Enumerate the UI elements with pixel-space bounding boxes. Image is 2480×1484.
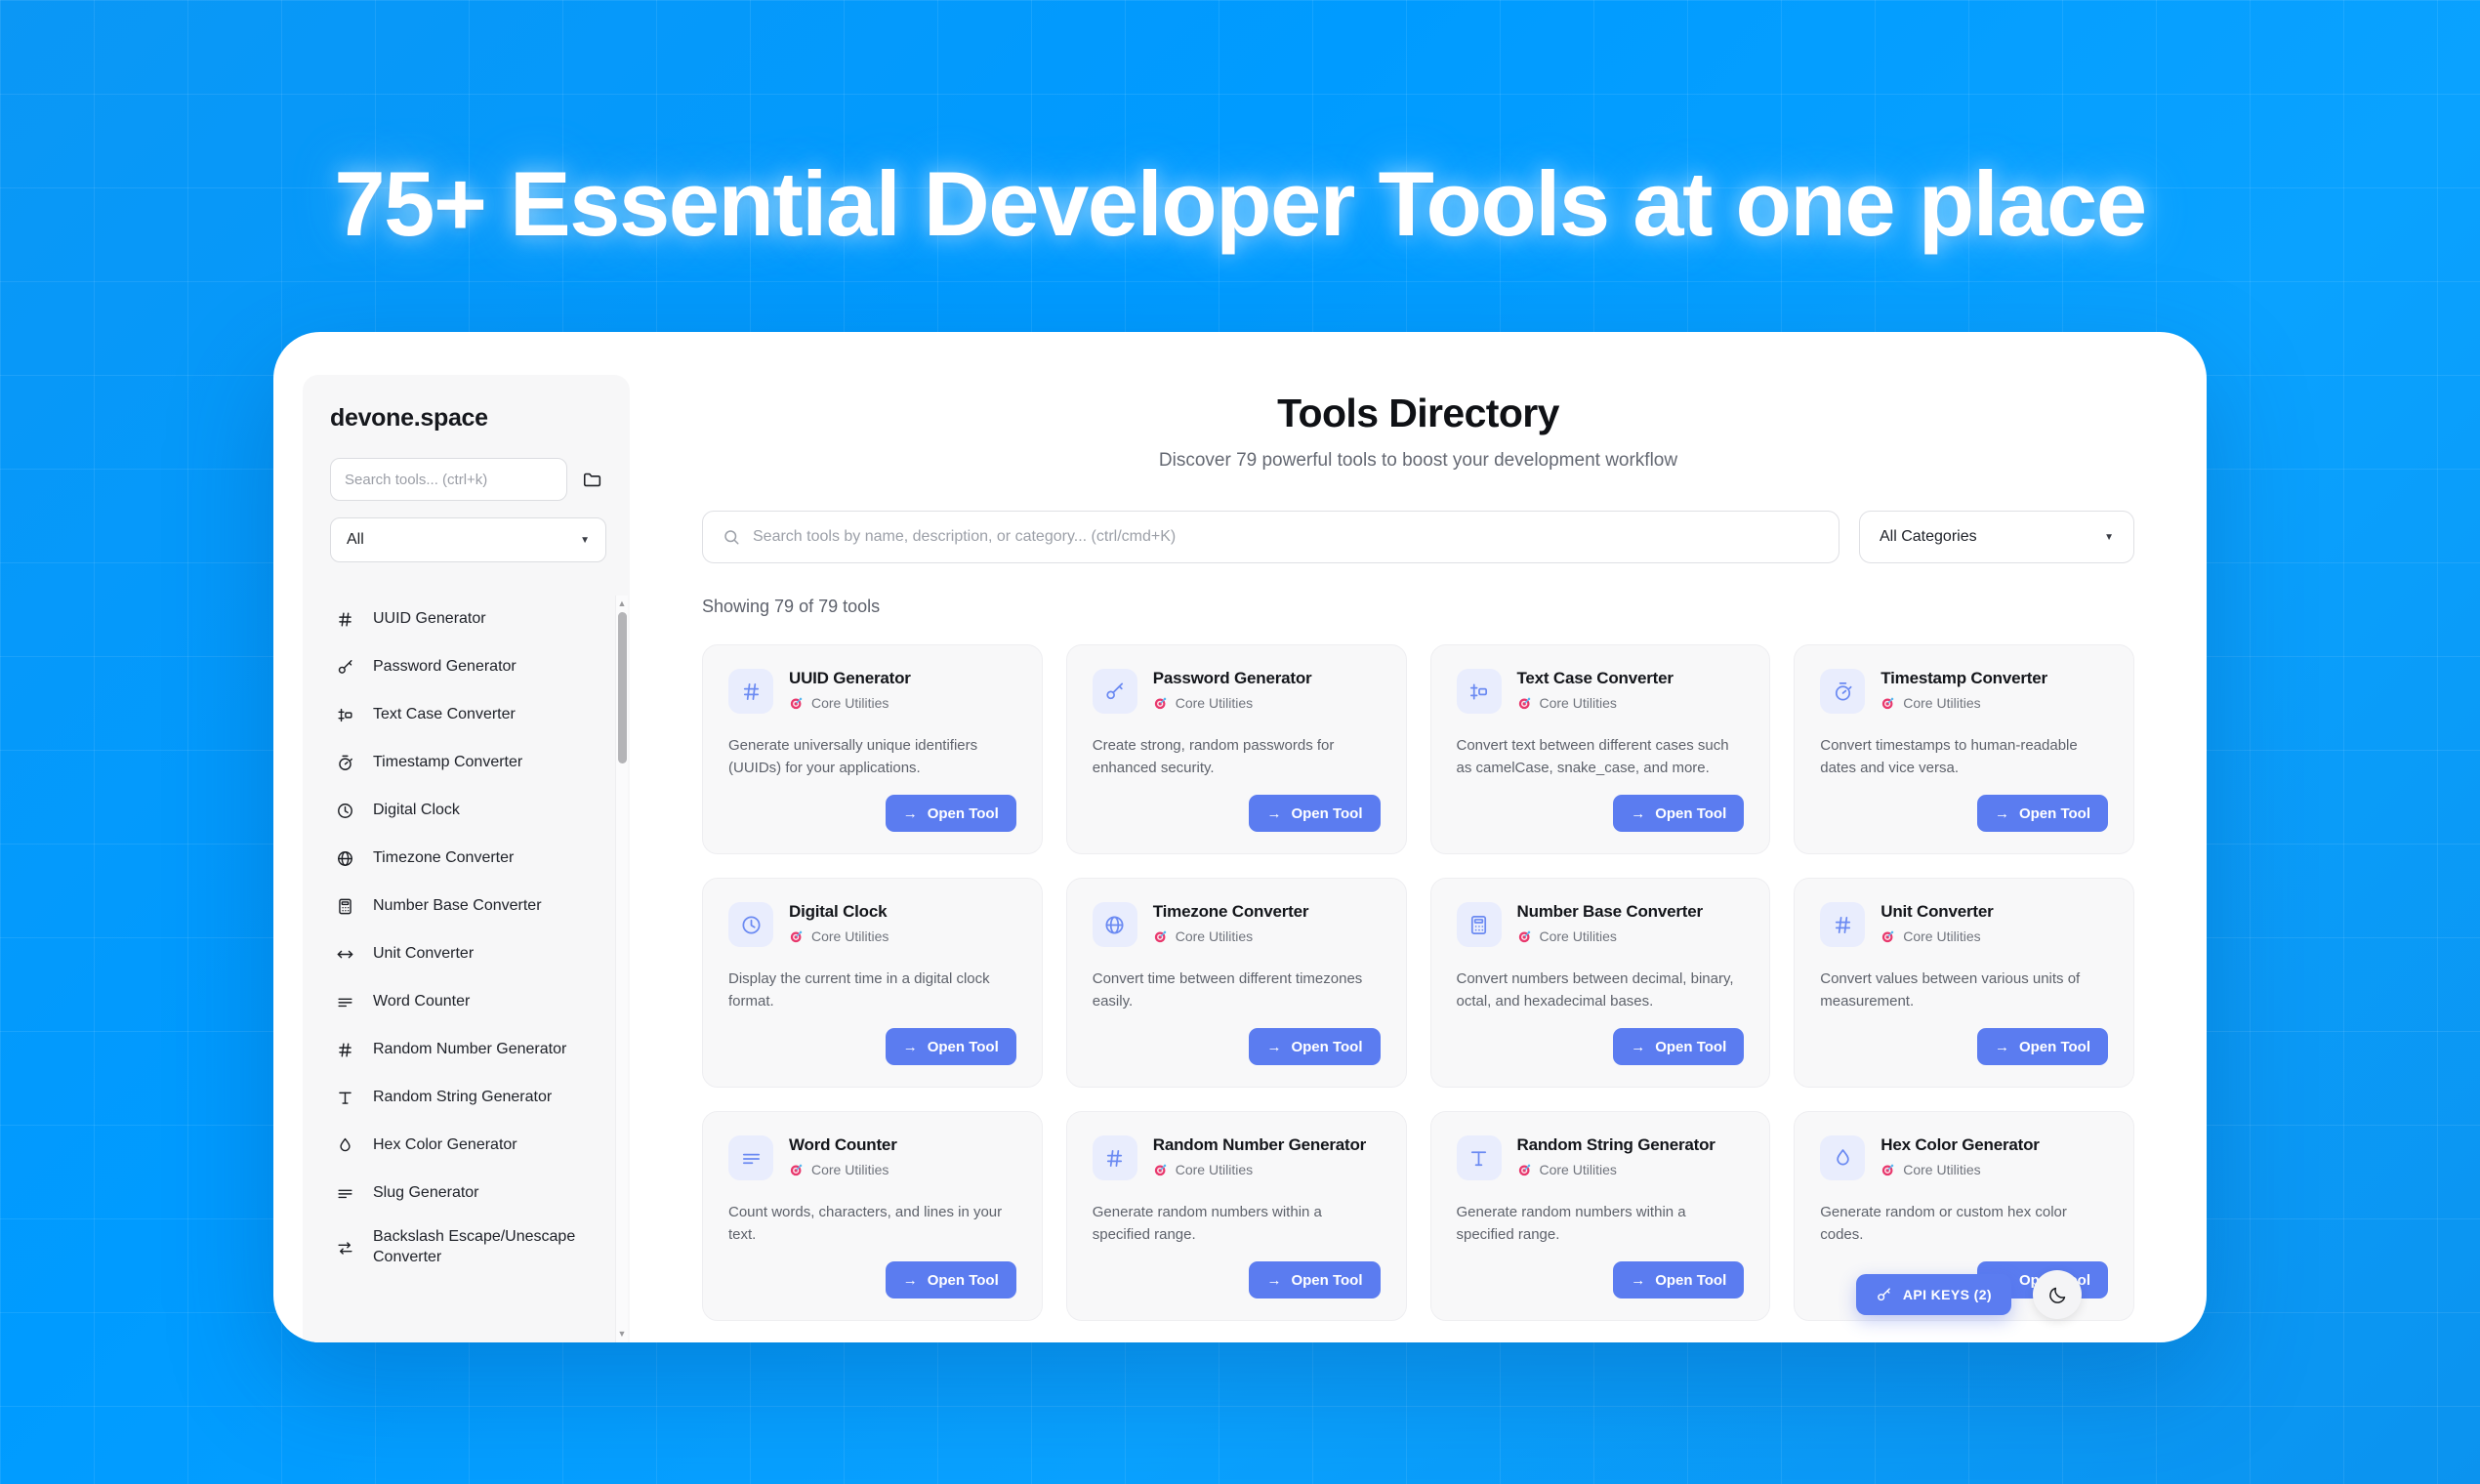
- api-keys-label: API KEYS (2): [1903, 1287, 1992, 1302]
- card-footer: → Open Tool: [1457, 779, 1745, 832]
- category-value: All Categories: [1880, 528, 1977, 546]
- timer-icon: [1820, 669, 1865, 714]
- card-description: Generate random numbers within a specifi…: [1457, 1202, 1745, 1246]
- lines-icon: [728, 1135, 773, 1180]
- chevron-down-icon: ▼: [2104, 532, 2114, 543]
- search-input[interactable]: Search tools by name, description, or ca…: [702, 511, 1839, 563]
- hash-icon: [1820, 902, 1865, 947]
- card-category-label: Core Utilities: [811, 1162, 889, 1177]
- sidebar-tool-list: UUID GeneratorPassword GeneratorText Cas…: [303, 596, 612, 1278]
- open-tool-button[interactable]: → Open Tool: [886, 795, 1016, 832]
- card-category: Core Utilities: [789, 695, 911, 711]
- text-case-icon: [1457, 669, 1502, 714]
- target-icon: [1517, 696, 1532, 711]
- sidebar-item-uuid-generator[interactable]: UUID Generator: [324, 596, 612, 643]
- card-category: Core Utilities: [1881, 695, 2047, 711]
- arrow-right-icon: →: [903, 1272, 918, 1289]
- target-icon: [789, 696, 804, 711]
- sidebar-category-value: All: [347, 531, 364, 549]
- tool-card[interactable]: Timezone Converter Core Utilities Conver…: [1066, 878, 1407, 1088]
- sidebar-item-label: UUID Generator: [373, 609, 486, 630]
- arrow-right-icon: →: [1631, 1272, 1645, 1289]
- card-footer: → Open Tool: [1820, 1012, 2108, 1065]
- category-select[interactable]: All Categories ▼: [1859, 511, 2134, 563]
- sidebar-item-timestamp-converter[interactable]: Timestamp Converter: [324, 739, 612, 787]
- main-content: Tools Directory Discover 79 powerful too…: [630, 332, 2207, 1342]
- brand-title: devone.space: [303, 404, 630, 433]
- scrollbar-thumb[interactable]: [618, 612, 627, 763]
- card-title: Random Number Generator: [1153, 1135, 1366, 1155]
- sidebar-item-label: Timestamp Converter: [373, 753, 522, 773]
- target-icon: [789, 929, 804, 944]
- sidebar-item-timezone-converter[interactable]: Timezone Converter: [324, 835, 612, 883]
- moon-icon: [2047, 1285, 2068, 1305]
- card-footer: → Open Tool: [1093, 1012, 1381, 1065]
- card-title: Hex Color Generator: [1881, 1135, 2039, 1155]
- card-header: Word Counter Core Utilities: [728, 1135, 1016, 1180]
- card-description: Display the current time in a digital cl…: [728, 969, 1016, 1012]
- arrow-right-icon: →: [1631, 1039, 1645, 1055]
- card-header: Text Case Converter Core Utilities: [1457, 669, 1745, 714]
- sidebar-item-label: Word Counter: [373, 992, 470, 1012]
- card-title: Password Generator: [1153, 669, 1312, 688]
- card-header: Random String Generator Core Utilities: [1457, 1135, 1745, 1180]
- card-header: Timestamp Converter Core Utilities: [1820, 669, 2108, 714]
- open-tool-label: Open Tool: [1655, 805, 1726, 822]
- sidebar-item-label: Digital Clock: [373, 801, 460, 821]
- target-icon: [1153, 696, 1168, 711]
- theme-toggle-button[interactable]: [2033, 1270, 2082, 1319]
- card-category: Core Utilities: [789, 928, 889, 944]
- sidebar-item-number-base-converter[interactable]: Number Base Converter: [324, 883, 612, 930]
- open-tool-label: Open Tool: [1655, 1272, 1726, 1289]
- arrow-right-icon: →: [903, 1039, 918, 1055]
- open-tool-label: Open Tool: [928, 805, 999, 822]
- card-description: Generate universally unique identifiers …: [728, 735, 1016, 779]
- card-category-label: Core Utilities: [1540, 1162, 1617, 1177]
- card-category: Core Utilities: [1517, 695, 1674, 711]
- card-category: Core Utilities: [1153, 695, 1312, 711]
- card-category-label: Core Utilities: [811, 928, 889, 944]
- text-t-icon: [334, 1089, 355, 1107]
- tool-card[interactable]: Digital Clock Core Utilities Display the…: [702, 878, 1043, 1088]
- card-category-label: Core Utilities: [1903, 928, 1980, 944]
- droplet-icon: [1820, 1135, 1865, 1180]
- card-category: Core Utilities: [789, 1162, 897, 1177]
- card-category: Core Utilities: [1517, 928, 1703, 944]
- search-icon: [723, 528, 740, 546]
- open-tool-button[interactable]: → Open Tool: [1613, 1028, 1744, 1065]
- open-tool-label: Open Tool: [1291, 805, 1362, 822]
- card-footer: → Open Tool: [728, 779, 1016, 832]
- target-icon: [1881, 929, 1895, 944]
- api-keys-button[interactable]: API KEYS (2): [1856, 1274, 2011, 1315]
- card-category: Core Utilities: [1881, 928, 1993, 944]
- swap-icon: [334, 1239, 355, 1257]
- sidebar-item-label: Timezone Converter: [373, 848, 514, 869]
- filter-row: Search tools by name, description, or ca…: [702, 511, 2134, 563]
- card-description: Generate random or custom hex color code…: [1820, 1202, 2108, 1246]
- search-placeholder: Search tools by name, description, or ca…: [753, 528, 1176, 546]
- arrow-right-icon: →: [1995, 1039, 2009, 1055]
- sidebar-item-label: Random String Generator: [373, 1088, 552, 1108]
- card-description: Count words, characters, and lines in yo…: [728, 1202, 1016, 1246]
- arrows-horizontal-icon: [334, 945, 355, 964]
- card-title: Unit Converter: [1881, 902, 1993, 922]
- target-icon: [1881, 1163, 1895, 1177]
- card-title: Timestamp Converter: [1881, 669, 2047, 688]
- card-header: Timezone Converter Core Utilities: [1093, 902, 1381, 947]
- card-category: Core Utilities: [1517, 1162, 1715, 1177]
- clock-icon: [334, 802, 355, 820]
- sidebar-item-unit-converter[interactable]: Unit Converter: [324, 930, 612, 978]
- card-description: Create strong, random passwords for enha…: [1093, 735, 1381, 779]
- target-icon: [1517, 929, 1532, 944]
- sidebar-item-backslash-escape-unescape-converter[interactable]: Backslash Escape/Unescape Converter: [324, 1217, 612, 1278]
- key-icon: [334, 658, 355, 677]
- lines-icon: [334, 1184, 355, 1203]
- card-footer: → Open Tool: [1457, 1246, 1745, 1298]
- sidebar-category-select[interactable]: All ▼: [330, 517, 606, 562]
- card-description: Convert values between various units of …: [1820, 969, 2108, 1012]
- sidebar-scrollbar[interactable]: ▲ ▼: [615, 596, 628, 1342]
- open-tool-button[interactable]: → Open Tool: [1249, 795, 1380, 832]
- card-header: Digital Clock Core Utilities: [728, 902, 1016, 947]
- card-category-label: Core Utilities: [1176, 695, 1253, 711]
- target-icon: [1517, 1163, 1532, 1177]
- sidebar: devone.space Search tools... (ctrl+k) Al…: [303, 375, 630, 1342]
- tool-card[interactable]: Random String Generator Core Utilities G…: [1430, 1111, 1771, 1321]
- sidebar-search-placeholder: Search tools... (ctrl+k): [345, 472, 487, 488]
- arrow-right-icon: →: [1631, 805, 1645, 822]
- tool-card[interactable]: Unit Converter Core Utilities Convert va…: [1794, 878, 2134, 1088]
- open-tool-label: Open Tool: [2019, 805, 2090, 822]
- arrow-right-icon: →: [1266, 805, 1281, 822]
- target-icon: [1153, 1163, 1168, 1177]
- lines-icon: [334, 993, 355, 1011]
- sidebar-item-label: Random Number Generator: [373, 1040, 566, 1060]
- tool-card[interactable]: Number Base Converter Core Utilities Con…: [1430, 878, 1771, 1088]
- card-title: Digital Clock: [789, 902, 889, 922]
- card-category: Core Utilities: [1881, 1162, 2039, 1177]
- card-footer: → Open Tool: [1093, 1246, 1381, 1298]
- sidebar-search-input[interactable]: Search tools... (ctrl+k): [330, 458, 567, 501]
- card-title: Number Base Converter: [1517, 902, 1703, 922]
- sidebar-item-label: Hex Color Generator: [373, 1135, 517, 1156]
- sidebar-search-row: Search tools... (ctrl+k): [303, 458, 630, 501]
- card-title: Text Case Converter: [1517, 669, 1674, 688]
- sidebar-item-random-number-generator[interactable]: Random Number Generator: [324, 1026, 612, 1074]
- open-tool-label: Open Tool: [1291, 1272, 1362, 1289]
- open-tool-button[interactable]: → Open Tool: [1249, 1261, 1380, 1298]
- card-header: Number Base Converter Core Utilities: [1457, 902, 1745, 947]
- open-tool-label: Open Tool: [928, 1272, 999, 1289]
- open-tool-button[interactable]: → Open Tool: [1613, 795, 1744, 832]
- sidebar-item-label: Slug Generator: [373, 1183, 479, 1204]
- card-description: Generate random numbers within a specifi…: [1093, 1202, 1381, 1246]
- chevron-down-icon: ▼: [580, 535, 590, 546]
- tool-card[interactable]: Word Counter Core Utilities Count words,…: [702, 1111, 1043, 1321]
- open-tool-label: Open Tool: [1655, 1039, 1726, 1055]
- open-tool-label: Open Tool: [2019, 1039, 2090, 1055]
- scroll-down-icon[interactable]: ▼: [618, 1326, 627, 1342]
- card-footer: → Open Tool: [1093, 779, 1381, 832]
- card-description: Convert text between different cases suc…: [1457, 735, 1745, 779]
- sidebar-item-label: Backslash Escape/Unescape Converter: [373, 1227, 602, 1268]
- card-header: Hex Color Generator Core Utilities: [1820, 1135, 2108, 1180]
- card-description: Convert numbers between decimal, binary,…: [1457, 969, 1745, 1012]
- tool-card-grid: UUID Generator Core Utilities Generate u…: [702, 644, 2134, 1321]
- open-tool-button[interactable]: → Open Tool: [886, 1028, 1016, 1065]
- key-icon: [1093, 669, 1137, 714]
- sidebar-item-random-string-generator[interactable]: Random String Generator: [324, 1074, 612, 1122]
- card-category-label: Core Utilities: [1903, 695, 1980, 711]
- card-category-label: Core Utilities: [811, 695, 889, 711]
- card-footer: → Open Tool: [728, 1246, 1016, 1298]
- tool-card[interactable]: Text Case Converter Core Utilities Conve…: [1430, 644, 1771, 854]
- card-header: UUID Generator Core Utilities: [728, 669, 1016, 714]
- sidebar-item-password-generator[interactable]: Password Generator: [324, 643, 612, 691]
- card-category: Core Utilities: [1153, 1162, 1366, 1177]
- folder-icon[interactable]: [579, 466, 606, 493]
- tool-card[interactable]: Timestamp Converter Core Utilities Conve…: [1794, 644, 2134, 854]
- target-icon: [1153, 929, 1168, 944]
- card-category: Core Utilities: [1153, 928, 1309, 944]
- tool-card[interactable]: Random Number Generator Core Utilities G…: [1066, 1111, 1407, 1321]
- sidebar-item-slug-generator[interactable]: Slug Generator: [324, 1170, 612, 1217]
- open-tool-button[interactable]: → Open Tool: [1613, 1261, 1744, 1298]
- card-footer: → Open Tool: [1820, 779, 2108, 832]
- card-footer: → Open Tool: [728, 1012, 1016, 1065]
- text-t-icon: [1457, 1135, 1502, 1180]
- open-tool-button[interactable]: → Open Tool: [1977, 795, 2108, 832]
- card-header: Random Number Generator Core Utilities: [1093, 1135, 1381, 1180]
- sidebar-item-word-counter[interactable]: Word Counter: [324, 978, 612, 1026]
- page-backdrop: 75+ Essential Developer Tools at one pla…: [0, 0, 2480, 1484]
- sidebar-item-label: Text Case Converter: [373, 705, 516, 725]
- target-icon: [789, 1163, 804, 1177]
- card-title: Word Counter: [789, 1135, 897, 1155]
- open-tool-button[interactable]: → Open Tool: [1249, 1028, 1380, 1065]
- card-header: Password Generator Core Utilities: [1093, 669, 1381, 714]
- globe-icon: [1093, 902, 1137, 947]
- app-window: devone.space Search tools... (ctrl+k) Al…: [273, 332, 2207, 1342]
- tool-card[interactable]: UUID Generator Core Utilities Generate u…: [702, 644, 1043, 854]
- target-icon: [1881, 696, 1895, 711]
- card-header: Unit Converter Core Utilities: [1820, 902, 2108, 947]
- text-case-icon: [334, 706, 355, 724]
- hash-icon: [728, 669, 773, 714]
- results-count: Showing 79 of 79 tools: [702, 597, 2134, 617]
- sidebar-item-digital-clock[interactable]: Digital Clock: [324, 787, 612, 835]
- page-title: Tools Directory: [702, 391, 2134, 436]
- scroll-up-icon[interactable]: ▲: [618, 596, 627, 612]
- card-footer: → Open Tool: [1457, 1012, 1745, 1065]
- arrow-right-icon: →: [1995, 805, 2009, 822]
- droplet-icon: [334, 1136, 355, 1155]
- sidebar-item-text-case-converter[interactable]: Text Case Converter: [324, 691, 612, 739]
- sidebar-list-scroll: UUID GeneratorPassword GeneratorText Cas…: [303, 596, 630, 1342]
- hero-headline: 75+ Essential Developer Tools at one pla…: [0, 151, 2480, 257]
- globe-icon: [334, 849, 355, 868]
- clock-icon: [728, 902, 773, 947]
- card-title: Random String Generator: [1517, 1135, 1715, 1155]
- open-tool-label: Open Tool: [1291, 1039, 1362, 1055]
- card-description: Convert timestamps to human-readable dat…: [1820, 735, 2108, 779]
- card-title: Timezone Converter: [1153, 902, 1309, 922]
- card-category-label: Core Utilities: [1540, 695, 1617, 711]
- open-tool-button[interactable]: → Open Tool: [886, 1261, 1016, 1298]
- card-title: UUID Generator: [789, 669, 911, 688]
- sidebar-item-label: Password Generator: [373, 657, 517, 678]
- hash-icon: [334, 1041, 355, 1059]
- arrow-right-icon: →: [1266, 1272, 1281, 1289]
- open-tool-label: Open Tool: [928, 1039, 999, 1055]
- timer-icon: [334, 754, 355, 772]
- arrow-right-icon: →: [903, 805, 918, 822]
- card-category-label: Core Utilities: [1176, 928, 1253, 944]
- card-category-label: Core Utilities: [1903, 1162, 1980, 1177]
- card-category-label: Core Utilities: [1540, 928, 1617, 944]
- arrow-right-icon: →: [1266, 1039, 1281, 1055]
- tool-card[interactable]: Password Generator Core Utilities Create…: [1066, 644, 1407, 854]
- open-tool-button[interactable]: → Open Tool: [1977, 1028, 2108, 1065]
- calculator-icon: [334, 897, 355, 916]
- key-icon: [1876, 1287, 1892, 1303]
- page-subtitle: Discover 79 powerful tools to boost your…: [702, 450, 2134, 472]
- sidebar-item-label: Unit Converter: [373, 944, 474, 965]
- calculator-icon: [1457, 902, 1502, 947]
- sidebar-item-hex-color-generator[interactable]: Hex Color Generator: [324, 1122, 612, 1170]
- card-category-label: Core Utilities: [1176, 1162, 1253, 1177]
- sidebar-item-label: Number Base Converter: [373, 896, 542, 917]
- hash-icon: [334, 610, 355, 629]
- card-description: Convert time between different timezones…: [1093, 969, 1381, 1012]
- hash-icon: [1093, 1135, 1137, 1180]
